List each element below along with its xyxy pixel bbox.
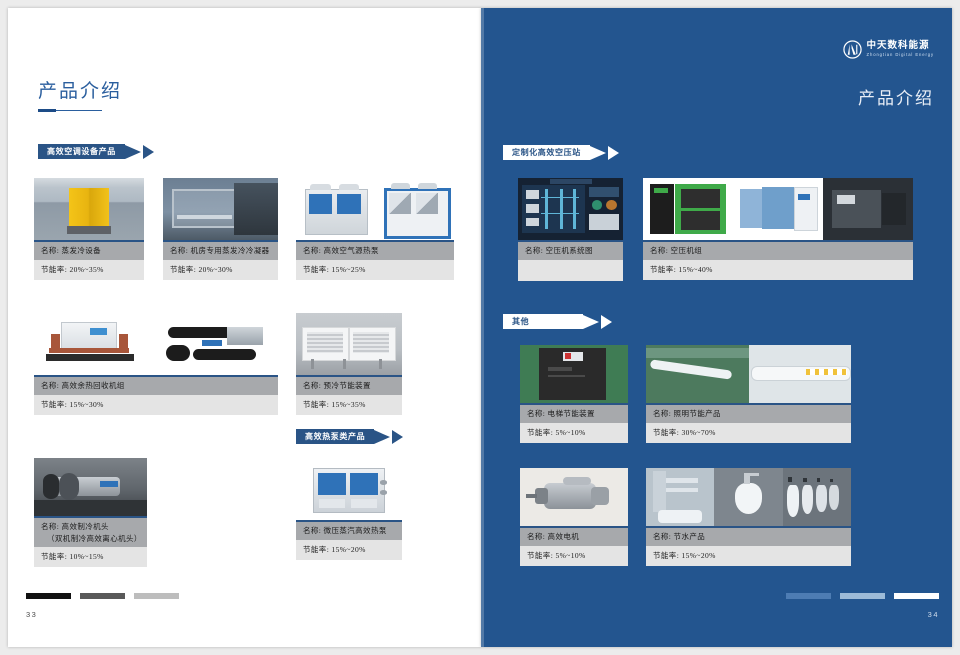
logo-emblem-icon xyxy=(843,40,862,59)
product-card[interactable]: 名称: 空压机系统图 xyxy=(518,178,623,281)
left-page: 产品介绍 高效空调设备产品 名称: 蒸发冷设备 节能率: 20%~35% xyxy=(8,8,481,647)
banner-arrow-icon xyxy=(125,145,141,159)
product-image-led-tube-closeup xyxy=(749,345,852,403)
brochure-spread: 产品介绍 高效空调设备产品 名称: 蒸发冷设备 节能率: 20%~35% xyxy=(0,0,960,655)
product-rate-bar: 节能率: 30%~70% xyxy=(646,423,851,443)
logo-wordmark: 中天数科能源 Zhongtian Digital Energy xyxy=(867,41,934,57)
page-number: 33 xyxy=(26,610,179,619)
product-rate-bar xyxy=(518,260,623,281)
product-images xyxy=(643,178,913,240)
footer-bar-2 xyxy=(840,593,885,599)
section-banner-air-compressor-label: 定制化高效空压站 xyxy=(503,145,590,160)
product-name: 名称: 高效制冷机头 xyxy=(41,521,140,533)
left-page-footer: 33 xyxy=(26,593,179,619)
product-rate-bar: 节能率: 15%~35% xyxy=(296,395,402,415)
product-rate: 节能率: 20%~35% xyxy=(41,264,137,275)
product-rate: 节能率: 5%~10% xyxy=(527,427,621,438)
product-image-waste-heat-recovery-chiller xyxy=(156,313,278,375)
product-rate: 节能率: 15%~25% xyxy=(303,264,447,275)
product-images xyxy=(520,468,628,526)
banner-chevron-icon xyxy=(601,315,612,329)
product-name: 名称: 节水产品 xyxy=(653,531,844,543)
product-name-line2: （双机制冷高效离心机头） xyxy=(41,533,140,545)
product-image-air-compressor-green xyxy=(643,178,733,240)
product-image-led-tube-on-desk xyxy=(646,345,749,403)
banner-arrow-icon xyxy=(374,430,390,444)
product-rate-bar: 节能率: 20%~35% xyxy=(34,260,144,280)
product-image-high-efficiency-compressor-head xyxy=(34,458,147,516)
product-card[interactable]: 名称: 节水产品 节能率: 15%~20% xyxy=(646,468,851,566)
product-card[interactable]: 名称: 高效空气源热泵 节能率: 15%~25% xyxy=(296,178,454,280)
banner-chevron-icon xyxy=(392,430,403,444)
product-name: 名称: 空压机系统图 xyxy=(525,245,616,257)
product-image-air-compressor-dark xyxy=(823,178,913,240)
product-image-air-source-heat-pump-blue xyxy=(375,178,454,240)
product-card[interactable]: 名称: 照明节能产品 节能率: 30%~70% xyxy=(646,345,851,443)
product-name: 名称: 预冷节能装置 xyxy=(303,380,395,392)
product-rate: 节能率: 30%~70% xyxy=(653,427,844,438)
product-images xyxy=(34,313,278,375)
footer-bar-1 xyxy=(26,593,71,599)
product-rate: 节能率: 20%~30% xyxy=(170,264,271,275)
product-rate: 节能率: 15%~40% xyxy=(650,264,906,275)
product-images xyxy=(646,468,851,526)
section-banner-air-compressor[interactable]: 定制化高效空压站 xyxy=(503,145,619,160)
logo-name-cn: 中天数科能源 xyxy=(867,41,934,51)
product-card[interactable]: 名称: 预冷节能装置 节能率: 15%~35% xyxy=(296,313,402,415)
product-name-bar: 名称: 高效制冷机头 （双机制冷高效离心机头） xyxy=(34,516,147,547)
product-name: 名称: 空压机组 xyxy=(650,245,906,257)
banner-arrow-icon xyxy=(590,146,606,160)
product-rate-bar: 节能率: 5%~10% xyxy=(520,423,628,443)
product-rate-bar: 节能率: 5%~10% xyxy=(520,546,628,566)
product-images xyxy=(518,178,623,240)
product-card[interactable]: 名称: 高效余热回收机组 节能率: 15%~30% xyxy=(34,313,278,415)
product-card[interactable]: 名称: 微压蒸汽高效热泵 节能率: 15%~20% xyxy=(296,458,402,560)
product-image-water-saving-sink xyxy=(646,468,714,526)
right-page-footer: 34 xyxy=(786,593,939,619)
product-rate: 节能率: 15%~20% xyxy=(653,550,844,561)
product-image-water-saving-urinal-row xyxy=(783,468,851,526)
product-name-bar: 名称: 高效电机 xyxy=(520,526,628,546)
product-name-bar: 名称: 预冷节能装置 xyxy=(296,375,402,395)
product-images xyxy=(646,345,851,403)
product-rate-bar: 节能率: 15%~25% xyxy=(296,260,454,280)
footer-bar-3 xyxy=(894,593,939,599)
product-card[interactable]: 名称: 空压机组 节能率: 15%~40% xyxy=(643,178,913,280)
product-rate-bar: 节能率: 15%~20% xyxy=(646,546,851,566)
product-card[interactable]: 名称: 电梯节能装置 节能率: 5%~10% xyxy=(520,345,628,443)
product-images xyxy=(520,345,628,403)
product-image-micro-pressure-steam-heat-pump xyxy=(296,458,402,520)
product-rate-bar: 节能率: 15%~20% xyxy=(296,540,402,560)
footer-bars xyxy=(26,593,179,599)
product-name: 名称: 电梯节能装置 xyxy=(527,408,621,420)
product-name: 名称: 微压蒸汽高效热泵 xyxy=(303,525,395,537)
section-banner-heatpump-label: 高效热泵类产品 xyxy=(296,429,374,444)
product-image-air-source-heat-pump-grey xyxy=(296,178,375,240)
product-rate: 节能率: 15%~20% xyxy=(303,544,395,555)
product-rate: 节能率: 5%~10% xyxy=(527,550,621,561)
product-name-bar: 名称: 空压机组 xyxy=(643,240,913,260)
product-images xyxy=(296,178,454,240)
product-image-pre-cooling-energy-saving-device xyxy=(296,313,402,375)
product-images xyxy=(34,178,144,240)
footer-bar-1 xyxy=(786,593,831,599)
product-name: 名称: 高效余热回收机组 xyxy=(41,380,271,392)
page-title: 产品介绍 xyxy=(858,84,934,109)
section-banner-other-label: 其他 xyxy=(503,314,583,329)
section-banner-heatpump[interactable]: 高效热泵类产品 xyxy=(296,429,403,444)
product-name: 名称: 蒸发冷设备 xyxy=(41,245,137,257)
product-images xyxy=(296,458,402,520)
product-card[interactable]: 名称: 蒸发冷设备 节能率: 20%~35% xyxy=(34,178,144,280)
product-name: 名称: 照明节能产品 xyxy=(653,408,844,420)
product-card[interactable]: 名称: 高效制冷机头 （双机制冷高效离心机头） 节能率: 10%~15% xyxy=(34,458,147,567)
title-underline xyxy=(38,110,102,111)
product-image-air-compressor-scada-diagram xyxy=(518,178,623,240)
product-rate: 节能率: 15%~35% xyxy=(303,399,395,410)
product-name-bar: 名称: 机房专用蒸发冷冷凝器 xyxy=(163,240,278,260)
logo-name-en: Zhongtian Digital Energy xyxy=(867,53,934,57)
product-image-high-efficiency-motor xyxy=(520,468,628,526)
product-card[interactable]: 名称: 高效电机 节能率: 5%~10% xyxy=(520,468,628,566)
product-rate-bar: 节能率: 20%~30% xyxy=(163,260,278,280)
product-images xyxy=(296,313,402,375)
product-name-bar: 名称: 照明节能产品 xyxy=(646,403,851,423)
page-title: 产品介绍 xyxy=(38,76,122,103)
banner-chevron-icon xyxy=(608,146,619,160)
product-images xyxy=(163,178,278,240)
product-rate-bar: 节能率: 15%~40% xyxy=(643,260,913,280)
product-image-elevator-energy-saving-device xyxy=(520,345,628,403)
product-name-bar: 名称: 空压机系统图 xyxy=(518,240,623,260)
section-banner-hvac[interactable]: 高效空调设备产品 xyxy=(38,144,154,159)
product-rate: 节能率: 10%~15% xyxy=(41,551,140,562)
product-rate-bar: 节能率: 15%~30% xyxy=(34,395,278,415)
footer-bar-2 xyxy=(80,593,125,599)
product-name: 名称: 机房专用蒸发冷冷凝器 xyxy=(170,245,271,257)
banner-chevron-icon xyxy=(143,145,154,159)
product-name-bar: 名称: 微压蒸汽高效热泵 xyxy=(296,520,402,540)
product-rate: 节能率: 15%~30% xyxy=(41,399,271,410)
product-image-machine-room-evaporative-condenser xyxy=(163,178,278,240)
section-banner-hvac-label: 高效空调设备产品 xyxy=(38,144,125,159)
product-name-bar: 名称: 蒸发冷设备 xyxy=(34,240,144,260)
product-name-bar: 名称: 电梯节能装置 xyxy=(520,403,628,423)
product-name-bar: 名称: 高效空气源热泵 xyxy=(296,240,454,260)
product-images xyxy=(34,458,147,516)
product-name: 名称: 高效电机 xyxy=(527,531,621,543)
product-image-waste-heat-recovery-skid xyxy=(34,313,156,375)
page-number: 34 xyxy=(786,610,939,619)
product-name-bar: 名称: 高效余热回收机组 xyxy=(34,375,278,395)
product-image-water-saving-urinal xyxy=(714,468,782,526)
product-rate-bar: 节能率: 10%~15% xyxy=(34,547,147,567)
product-name: 名称: 高效空气源热泵 xyxy=(303,245,447,257)
product-image-air-compressor-blue xyxy=(733,178,823,240)
footer-bar-3 xyxy=(134,593,179,599)
left-page-header: 产品介绍 xyxy=(38,76,122,111)
banner-arrow-icon xyxy=(583,315,599,329)
footer-bars xyxy=(786,593,939,599)
company-logo: 中天数科能源 Zhongtian Digital Energy xyxy=(843,40,934,59)
section-banner-other[interactable]: 其他 xyxy=(503,314,612,329)
product-image-evaporative-cooling-unit-corridor xyxy=(34,178,144,240)
right-page: 中天数科能源 Zhongtian Digital Energy 产品介绍 定制化… xyxy=(481,8,952,647)
product-card[interactable]: 名称: 机房专用蒸发冷冷凝器 节能率: 20%~30% xyxy=(163,178,278,280)
product-name-bar: 名称: 节水产品 xyxy=(646,526,851,546)
